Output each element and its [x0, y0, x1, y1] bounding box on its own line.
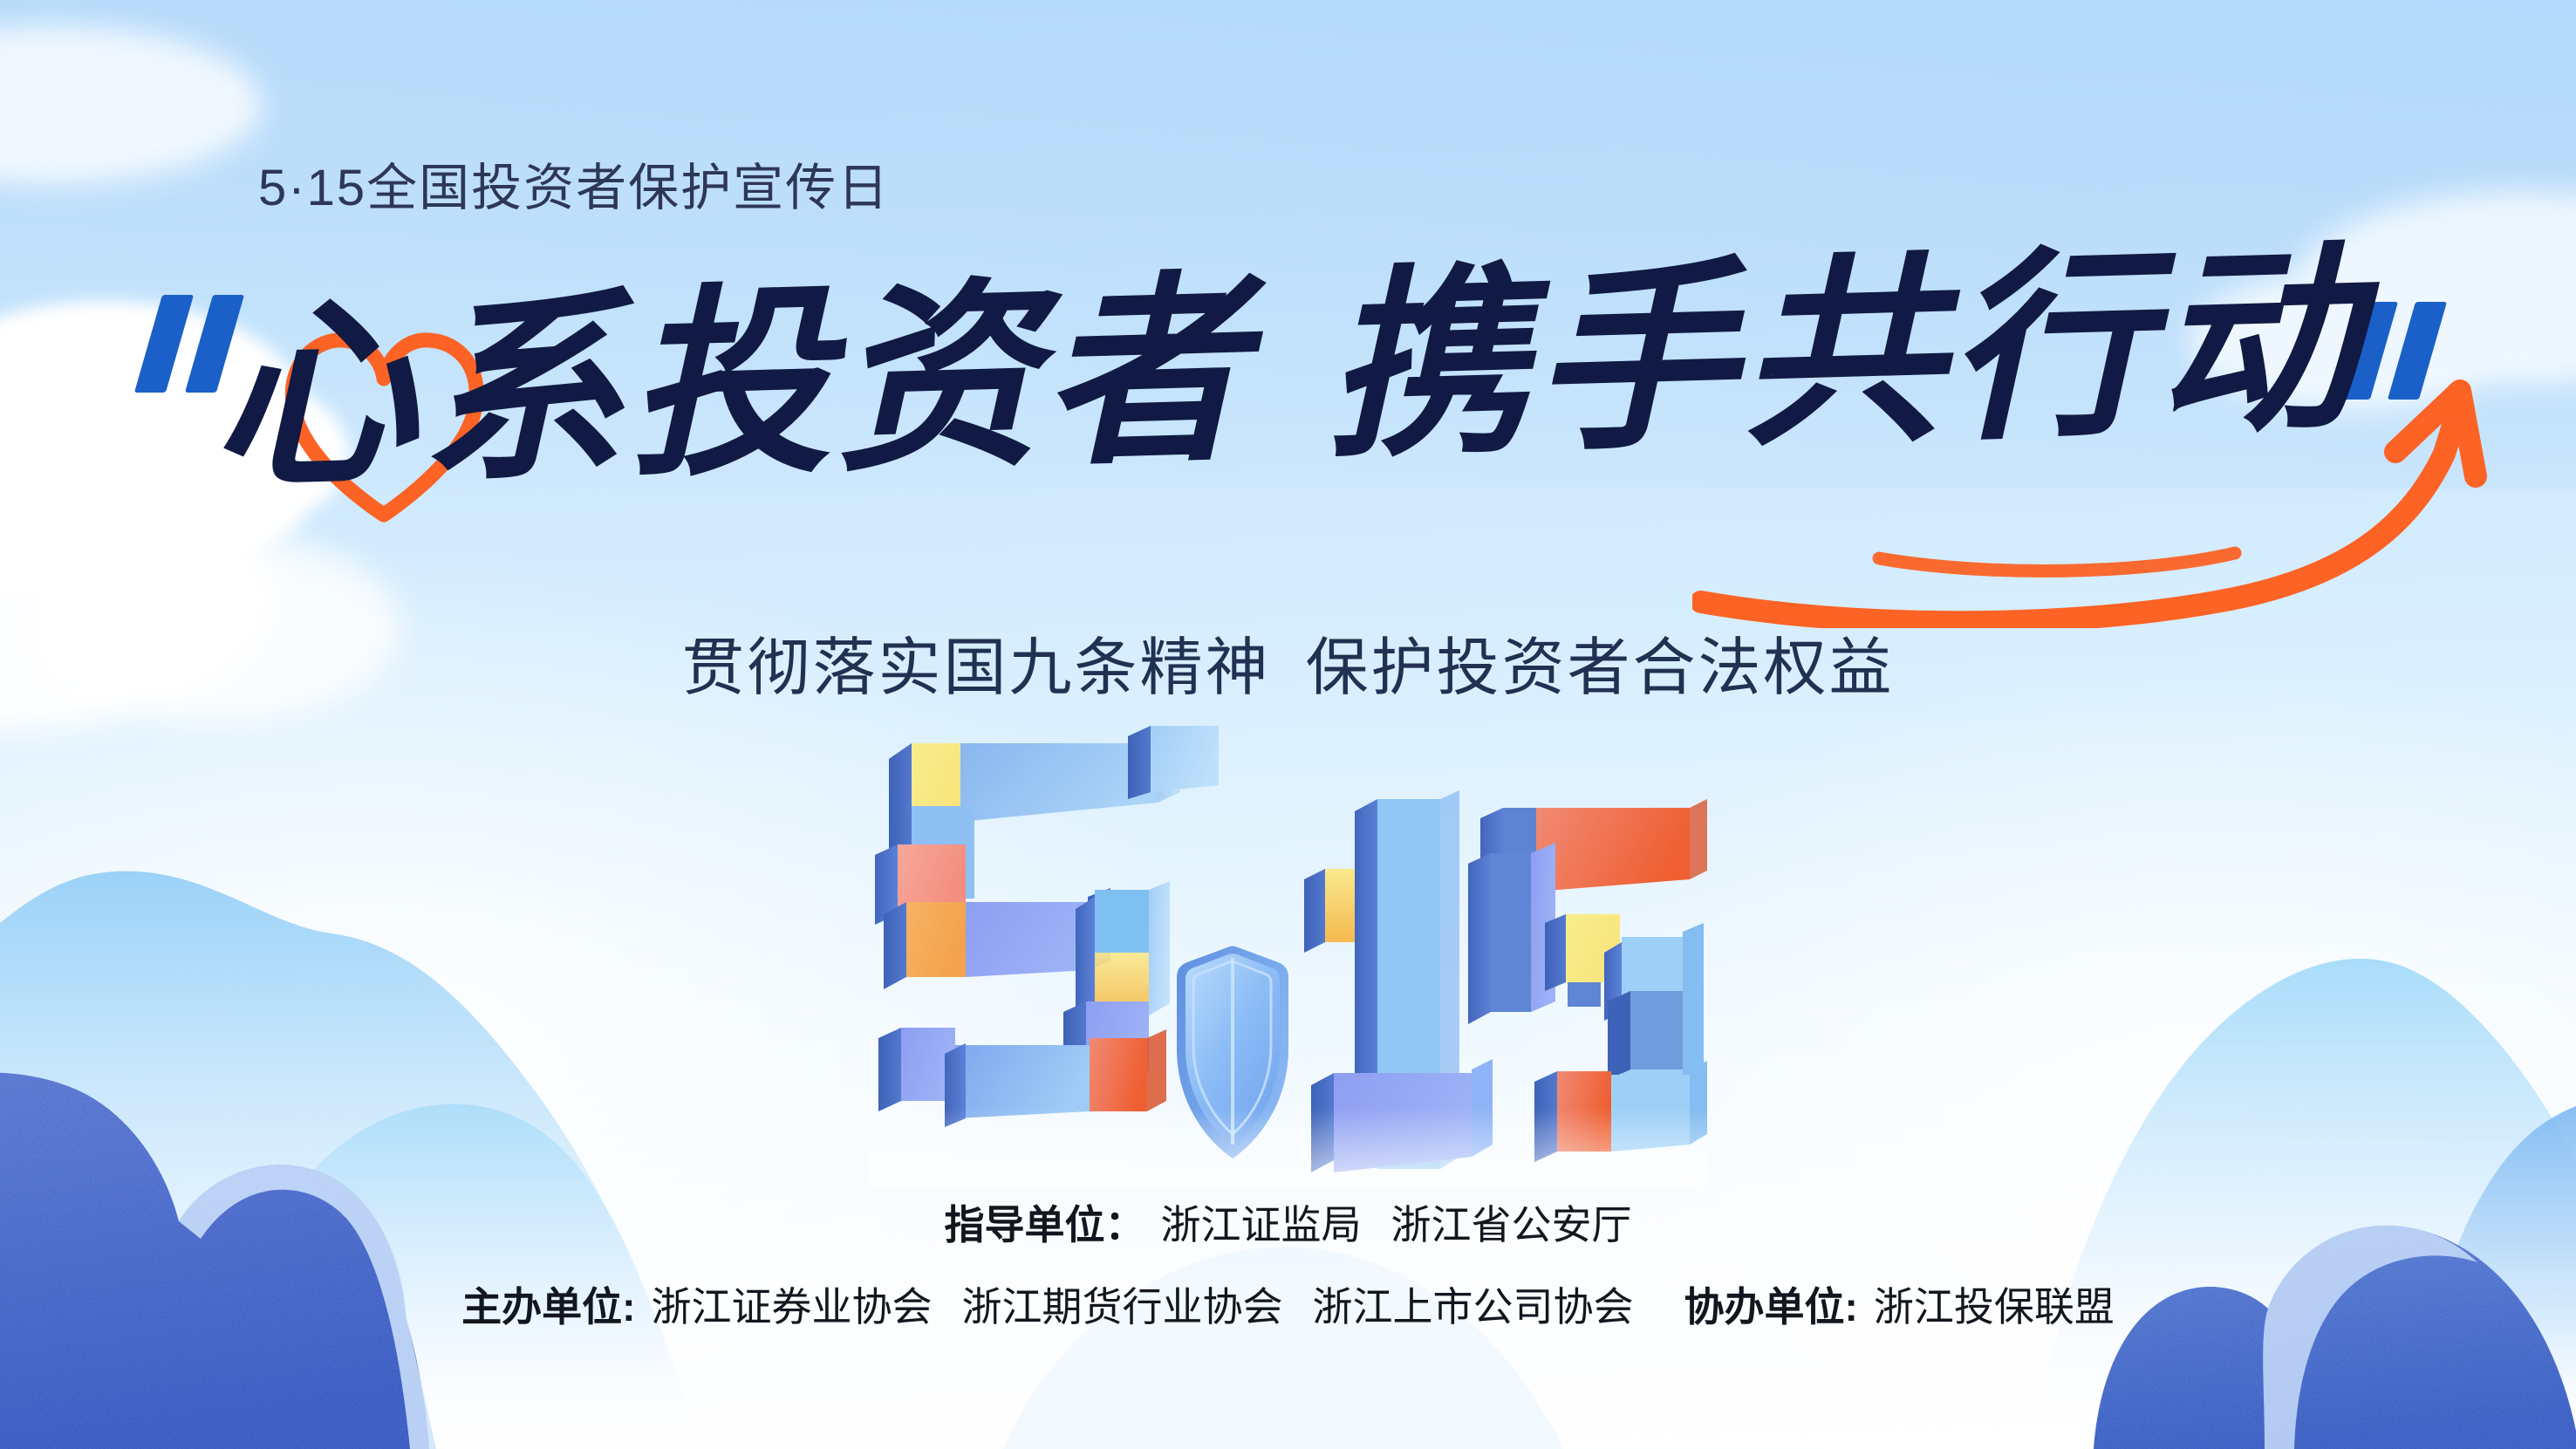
- slogan-part-2: 携手共行动: [1322, 219, 2367, 486]
- host-value-1: 浙江证券业协会: [652, 1284, 933, 1329]
- subtitle-right: 保护投资者合法权益: [1306, 633, 1895, 703]
- slogan-calligraphy: 心系投资者携手共行动: [0, 262, 2576, 475]
- host-label: 主办单位:: [461, 1284, 635, 1329]
- artwork-blocks: [875, 726, 1707, 1172]
- credit-line-hosts: 主办单位:浙江证券业协会浙江期货行业协会浙江上市公司协会协办单位:浙江投保联盟: [0, 1275, 2576, 1333]
- guide-label: 指导单位：: [945, 1202, 1145, 1247]
- poster-canvas: 5·15全国投资者保护宣传日 心系投资者携手共行动 贯彻落实国九条精神保护投资者…: [0, 0, 2576, 1449]
- slogan-part-1: 心系投资者: [209, 249, 1254, 516]
- cohost-label: 协办单位:: [1684, 1284, 1858, 1329]
- subtitle-left: 贯彻落实国九条精神: [681, 633, 1270, 703]
- artwork-515-svg: [870, 724, 1707, 1186]
- page-kicker: 5·15全国投资者保护宣传日: [258, 147, 890, 220]
- guide-value-2: 浙江省公安厅: [1391, 1202, 1632, 1247]
- artwork-515: [0, 724, 2576, 1186]
- credits-block: 指导单位：浙江证监局浙江省公安厅 主办单位:浙江证券业协会浙江期货行业协会浙江上…: [0, 1193, 2576, 1333]
- guide-value-1: 浙江证监局: [1161, 1202, 1362, 1247]
- cohost-value-1: 浙江投保联盟: [1874, 1284, 2115, 1329]
- credit-line-guide: 指导单位：浙江证监局浙江省公安厅: [0, 1193, 2576, 1251]
- host-value-3: 浙江上市公司协会: [1313, 1284, 1634, 1329]
- page-subtitle: 贯彻落实国九条精神保护投资者合法权益: [0, 616, 2576, 707]
- host-value-2: 浙江期货行业协会: [962, 1284, 1283, 1329]
